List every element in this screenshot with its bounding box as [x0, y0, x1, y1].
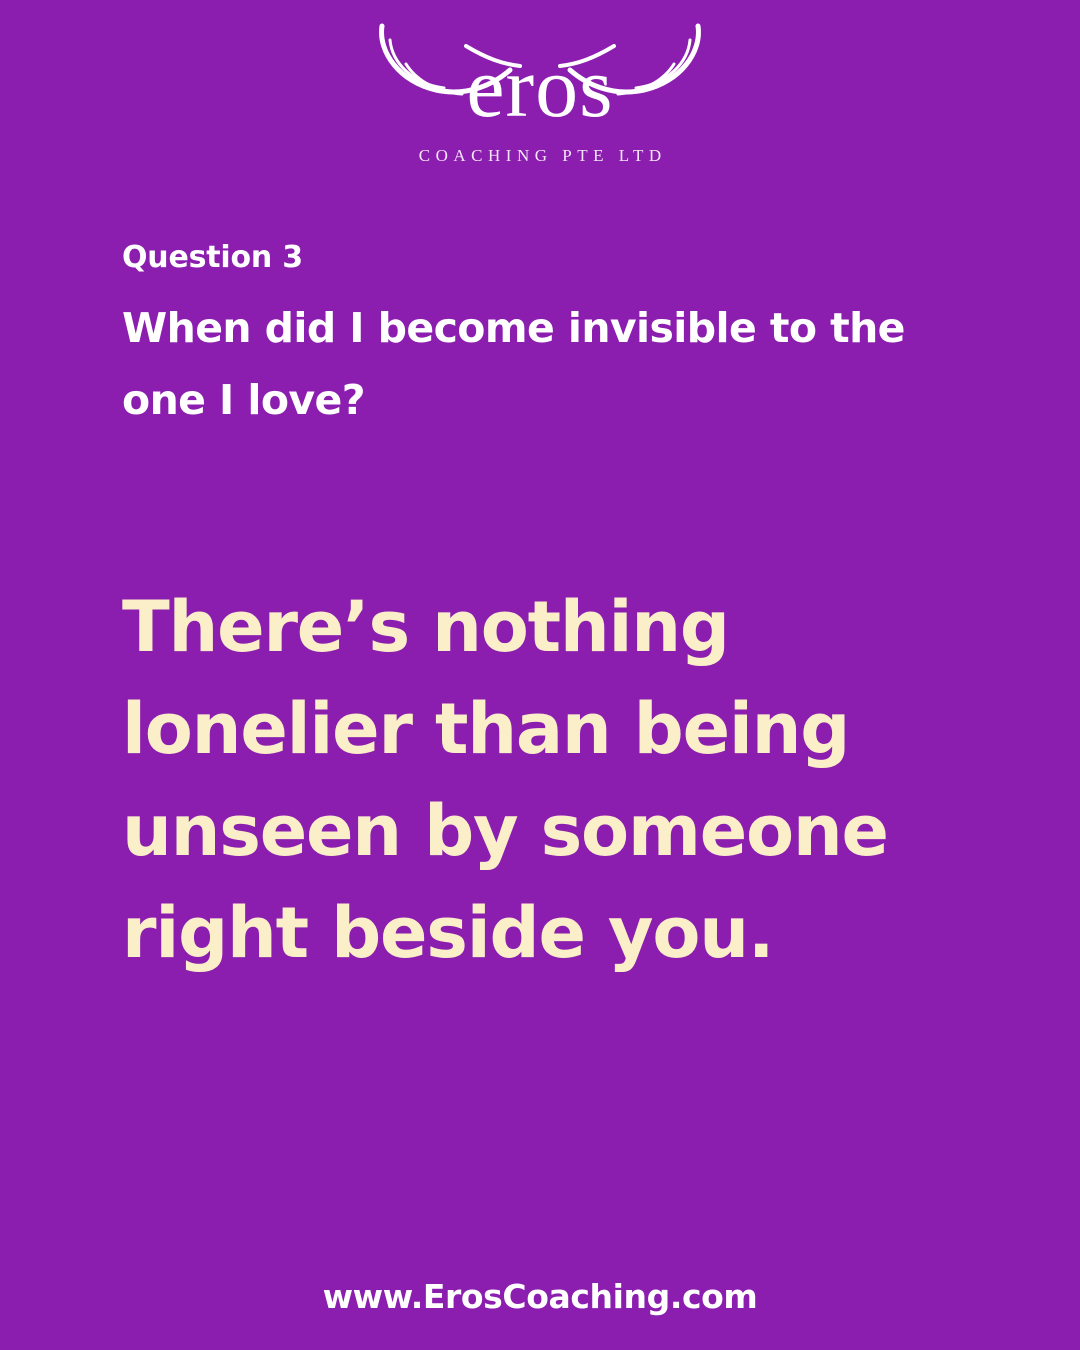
website-url[interactable]: www.ErosCoaching.com	[323, 1277, 758, 1316]
logo-tagline: COACHING PTE LTD	[0, 146, 1080, 166]
question-headline: When did I become invisible to the one I…	[122, 292, 922, 436]
brand-logo: eros COACHING PTE LTD	[0, 18, 1080, 168]
question-number-label: Question 3	[122, 238, 962, 278]
logo-wordmark: eros	[466, 44, 613, 130]
quote-block: There’s nothing lonelier than being unse…	[122, 576, 952, 984]
footer: www.ErosCoaching.com	[0, 1276, 1080, 1318]
question-block: Question 3 When did I become invisible t…	[122, 238, 962, 436]
social-post-card: eros COACHING PTE LTD Question 3 When di…	[0, 0, 1080, 1350]
quote-statement: There’s nothing lonelier than being unse…	[122, 576, 952, 984]
